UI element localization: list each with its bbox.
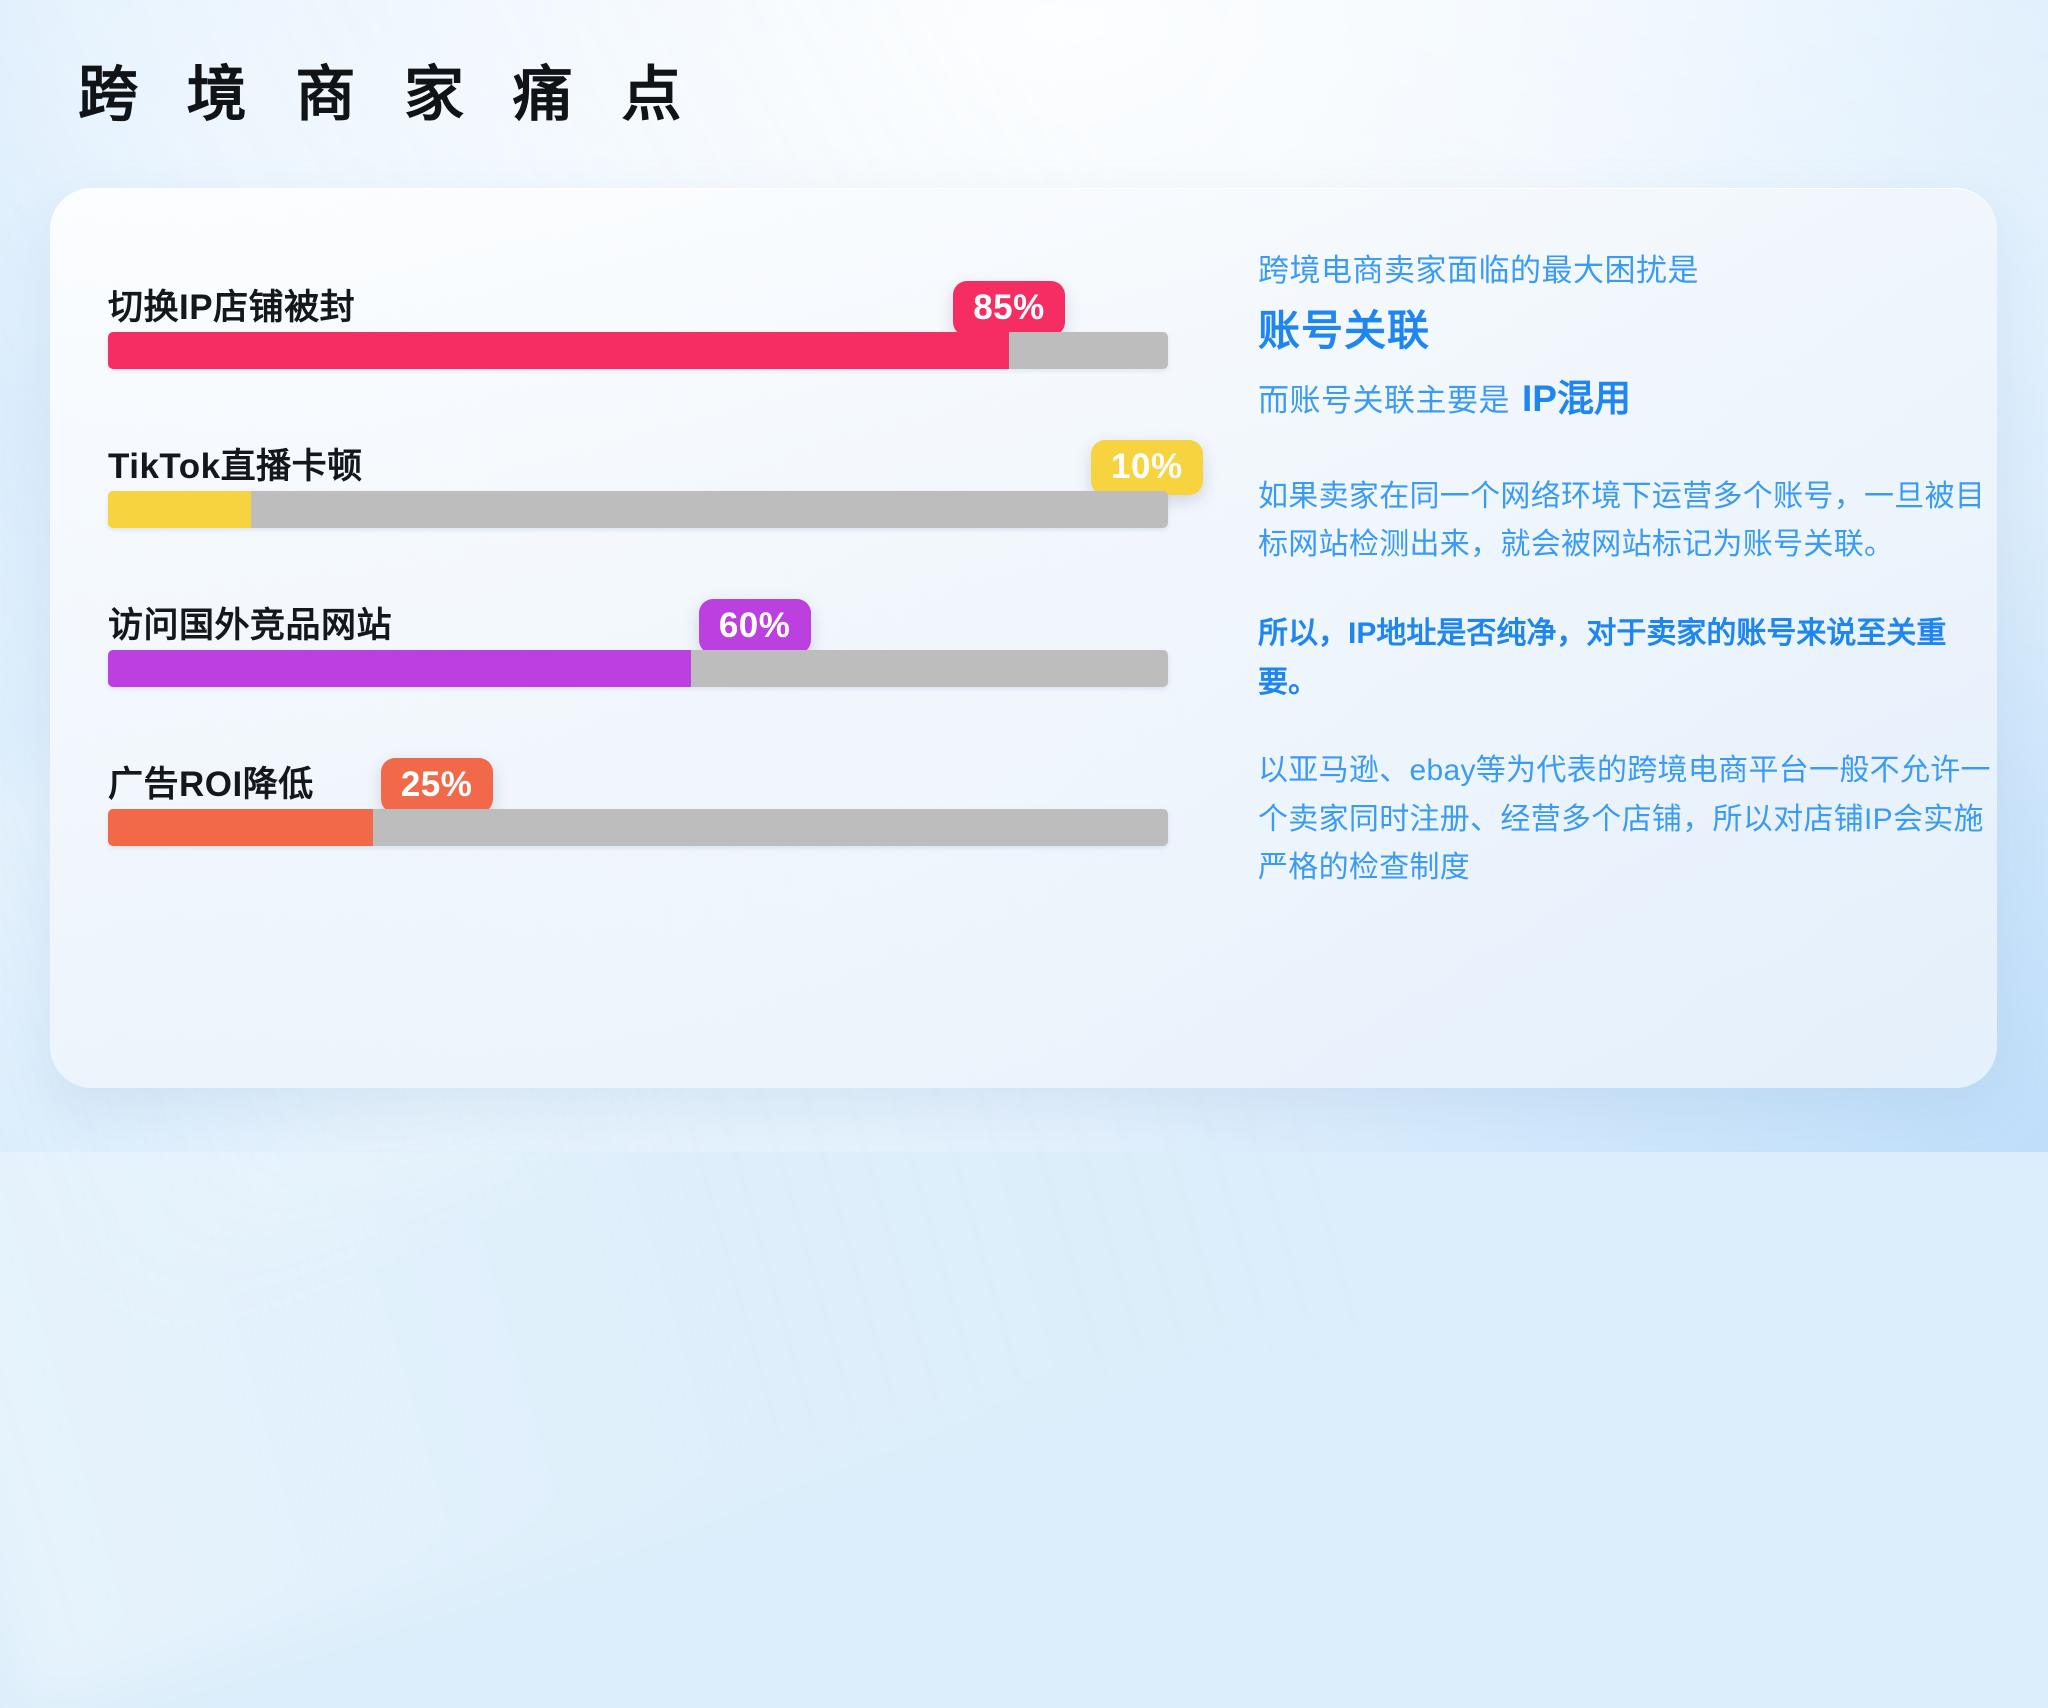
bar-label-0: 切换IP店铺被封 [108, 279, 355, 330]
copy-paragraph-2: 所以，IP地址是否纯净，对于卖家的账号来说至关重要。 [1258, 610, 1998, 707]
content-card: 切换IP店铺被封 85% TikTok直播卡顿 10% 访问国外竞品网站 60% [50, 188, 1997, 1088]
bar-header-1: TikTok直播卡顿 10% [108, 419, 1168, 491]
copy-sub: 而账号关联主要是IP混用 [1258, 371, 1998, 427]
bar-header-2: 访问国外竞品网站 60% [108, 578, 1168, 650]
copy-paragraph-1: 如果卖家在同一个网络环境下运营多个账号，一旦被目标网站检测出来，就会被网站标记为… [1258, 473, 1998, 570]
bar-item-0: 切换IP店铺被封 85% [108, 260, 1168, 369]
page-title: 跨 境 商 家 痛 点 [78, 62, 697, 128]
bar-fill-3 [108, 809, 373, 846]
bar-value-badge-3: 25% [381, 758, 493, 813]
bar-label-3: 广告ROI降低 [108, 756, 314, 807]
bar-value-badge-0: 85% [953, 281, 1065, 336]
bar-fill-2 [108, 650, 691, 687]
description-panel: 跨境电商卖家面临的最大困扰是 账号关联 而账号关联主要是IP混用 如果卖家在同一… [1258, 248, 1998, 893]
bar-header-0: 切换IP店铺被封 85% [108, 260, 1168, 332]
bar-chart: 切换IP店铺被封 85% TikTok直播卡顿 10% 访问国外竞品网站 60% [108, 260, 1168, 846]
copy-lead: 跨境电商卖家面临的最大困扰是 [1258, 248, 1998, 295]
copy-paragraph-3: 以亚马逊、ebay等为代表的跨境电商平台一般不允许一个卖家同时注册、经营多个店铺… [1258, 747, 1998, 893]
bar-item-2: 访问国外竞品网站 60% [108, 578, 1168, 687]
bar-label-1: TikTok直播卡顿 [108, 438, 363, 489]
bar-track-2 [108, 650, 1168, 687]
bar-value-badge-1: 10% [1091, 440, 1203, 495]
copy-sub-emphasis: IP混用 [1522, 378, 1631, 419]
copy-sub-prefix: 而账号关联主要是 [1258, 383, 1510, 418]
bar-fill-1 [108, 491, 251, 528]
copy-hero: 账号关联 [1258, 301, 1998, 362]
bar-value-badge-2: 60% [699, 599, 811, 654]
bar-item-3: 广告ROI降低 25% [108, 737, 1168, 846]
bar-header-3: 广告ROI降低 25% [108, 737, 1168, 809]
bar-fill-0 [108, 332, 1009, 369]
bar-track-0 [108, 332, 1168, 369]
bar-track-3 [108, 809, 1168, 846]
bar-item-1: TikTok直播卡顿 10% [108, 419, 1168, 528]
bar-label-2: 访问国外竞品网站 [108, 597, 392, 648]
bar-track-1 [108, 491, 1168, 528]
